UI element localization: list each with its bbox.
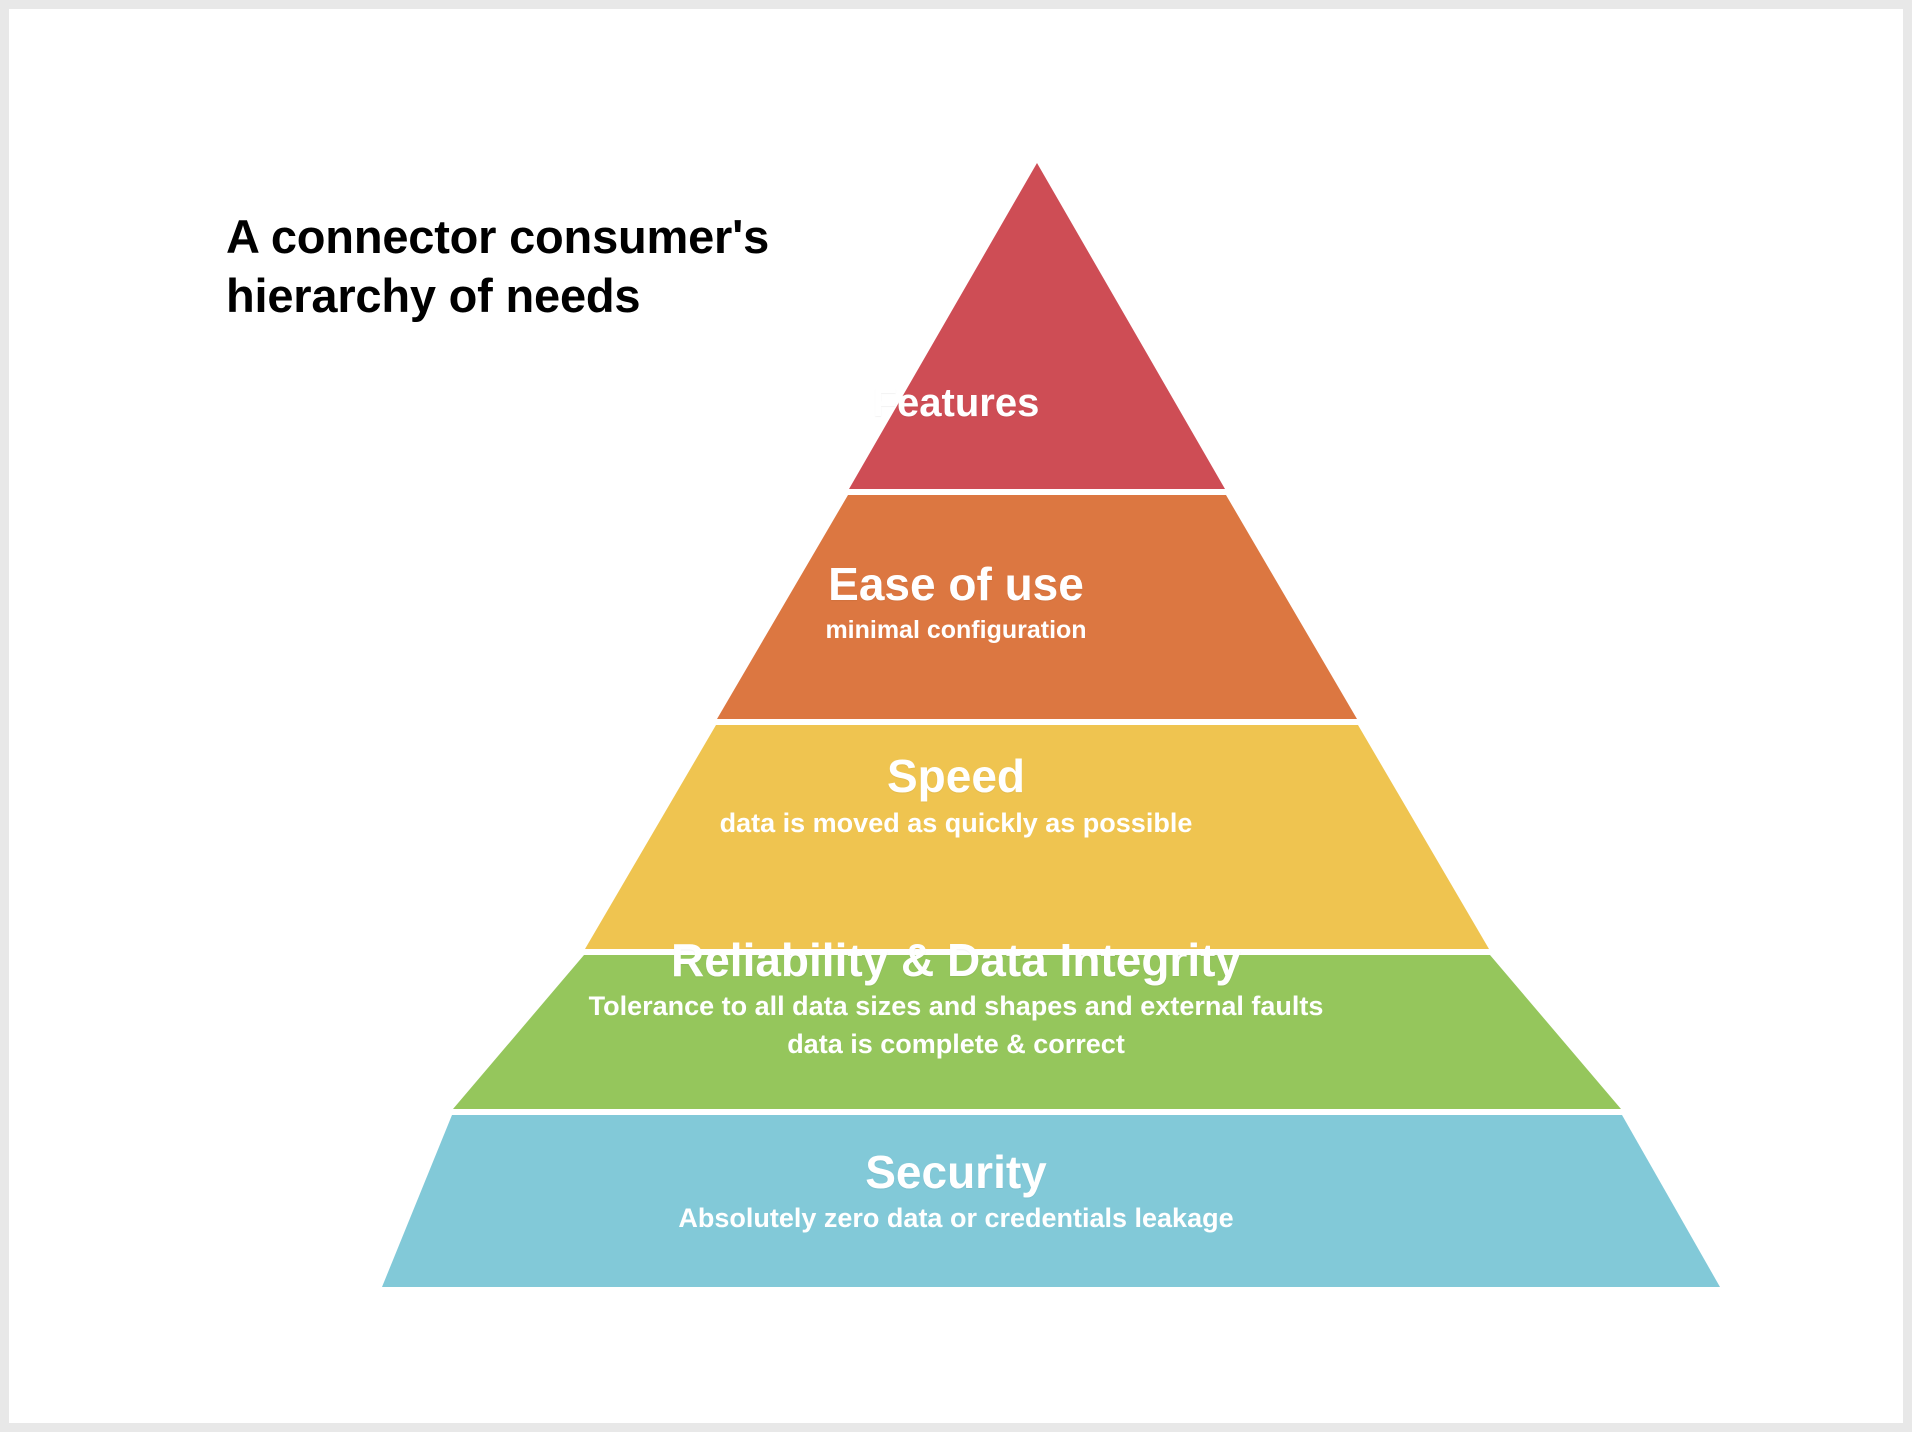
pyramid-band-reliability[interactable]	[453, 955, 1621, 1109]
pyramid-band-security[interactable]	[382, 1115, 1720, 1287]
diagram-canvas: A connector consumer's hierarchy of need…	[0, 0, 1912, 1432]
pyramid-band-speed[interactable]	[585, 725, 1489, 949]
pyramid-shapes	[0, 0, 1912, 1432]
pyramid-diagram: Features Ease of use minimal configurati…	[0, 0, 1912, 1432]
pyramid-band-ease-of-use[interactable]	[717, 495, 1357, 719]
pyramid-band-features[interactable]	[849, 163, 1225, 489]
